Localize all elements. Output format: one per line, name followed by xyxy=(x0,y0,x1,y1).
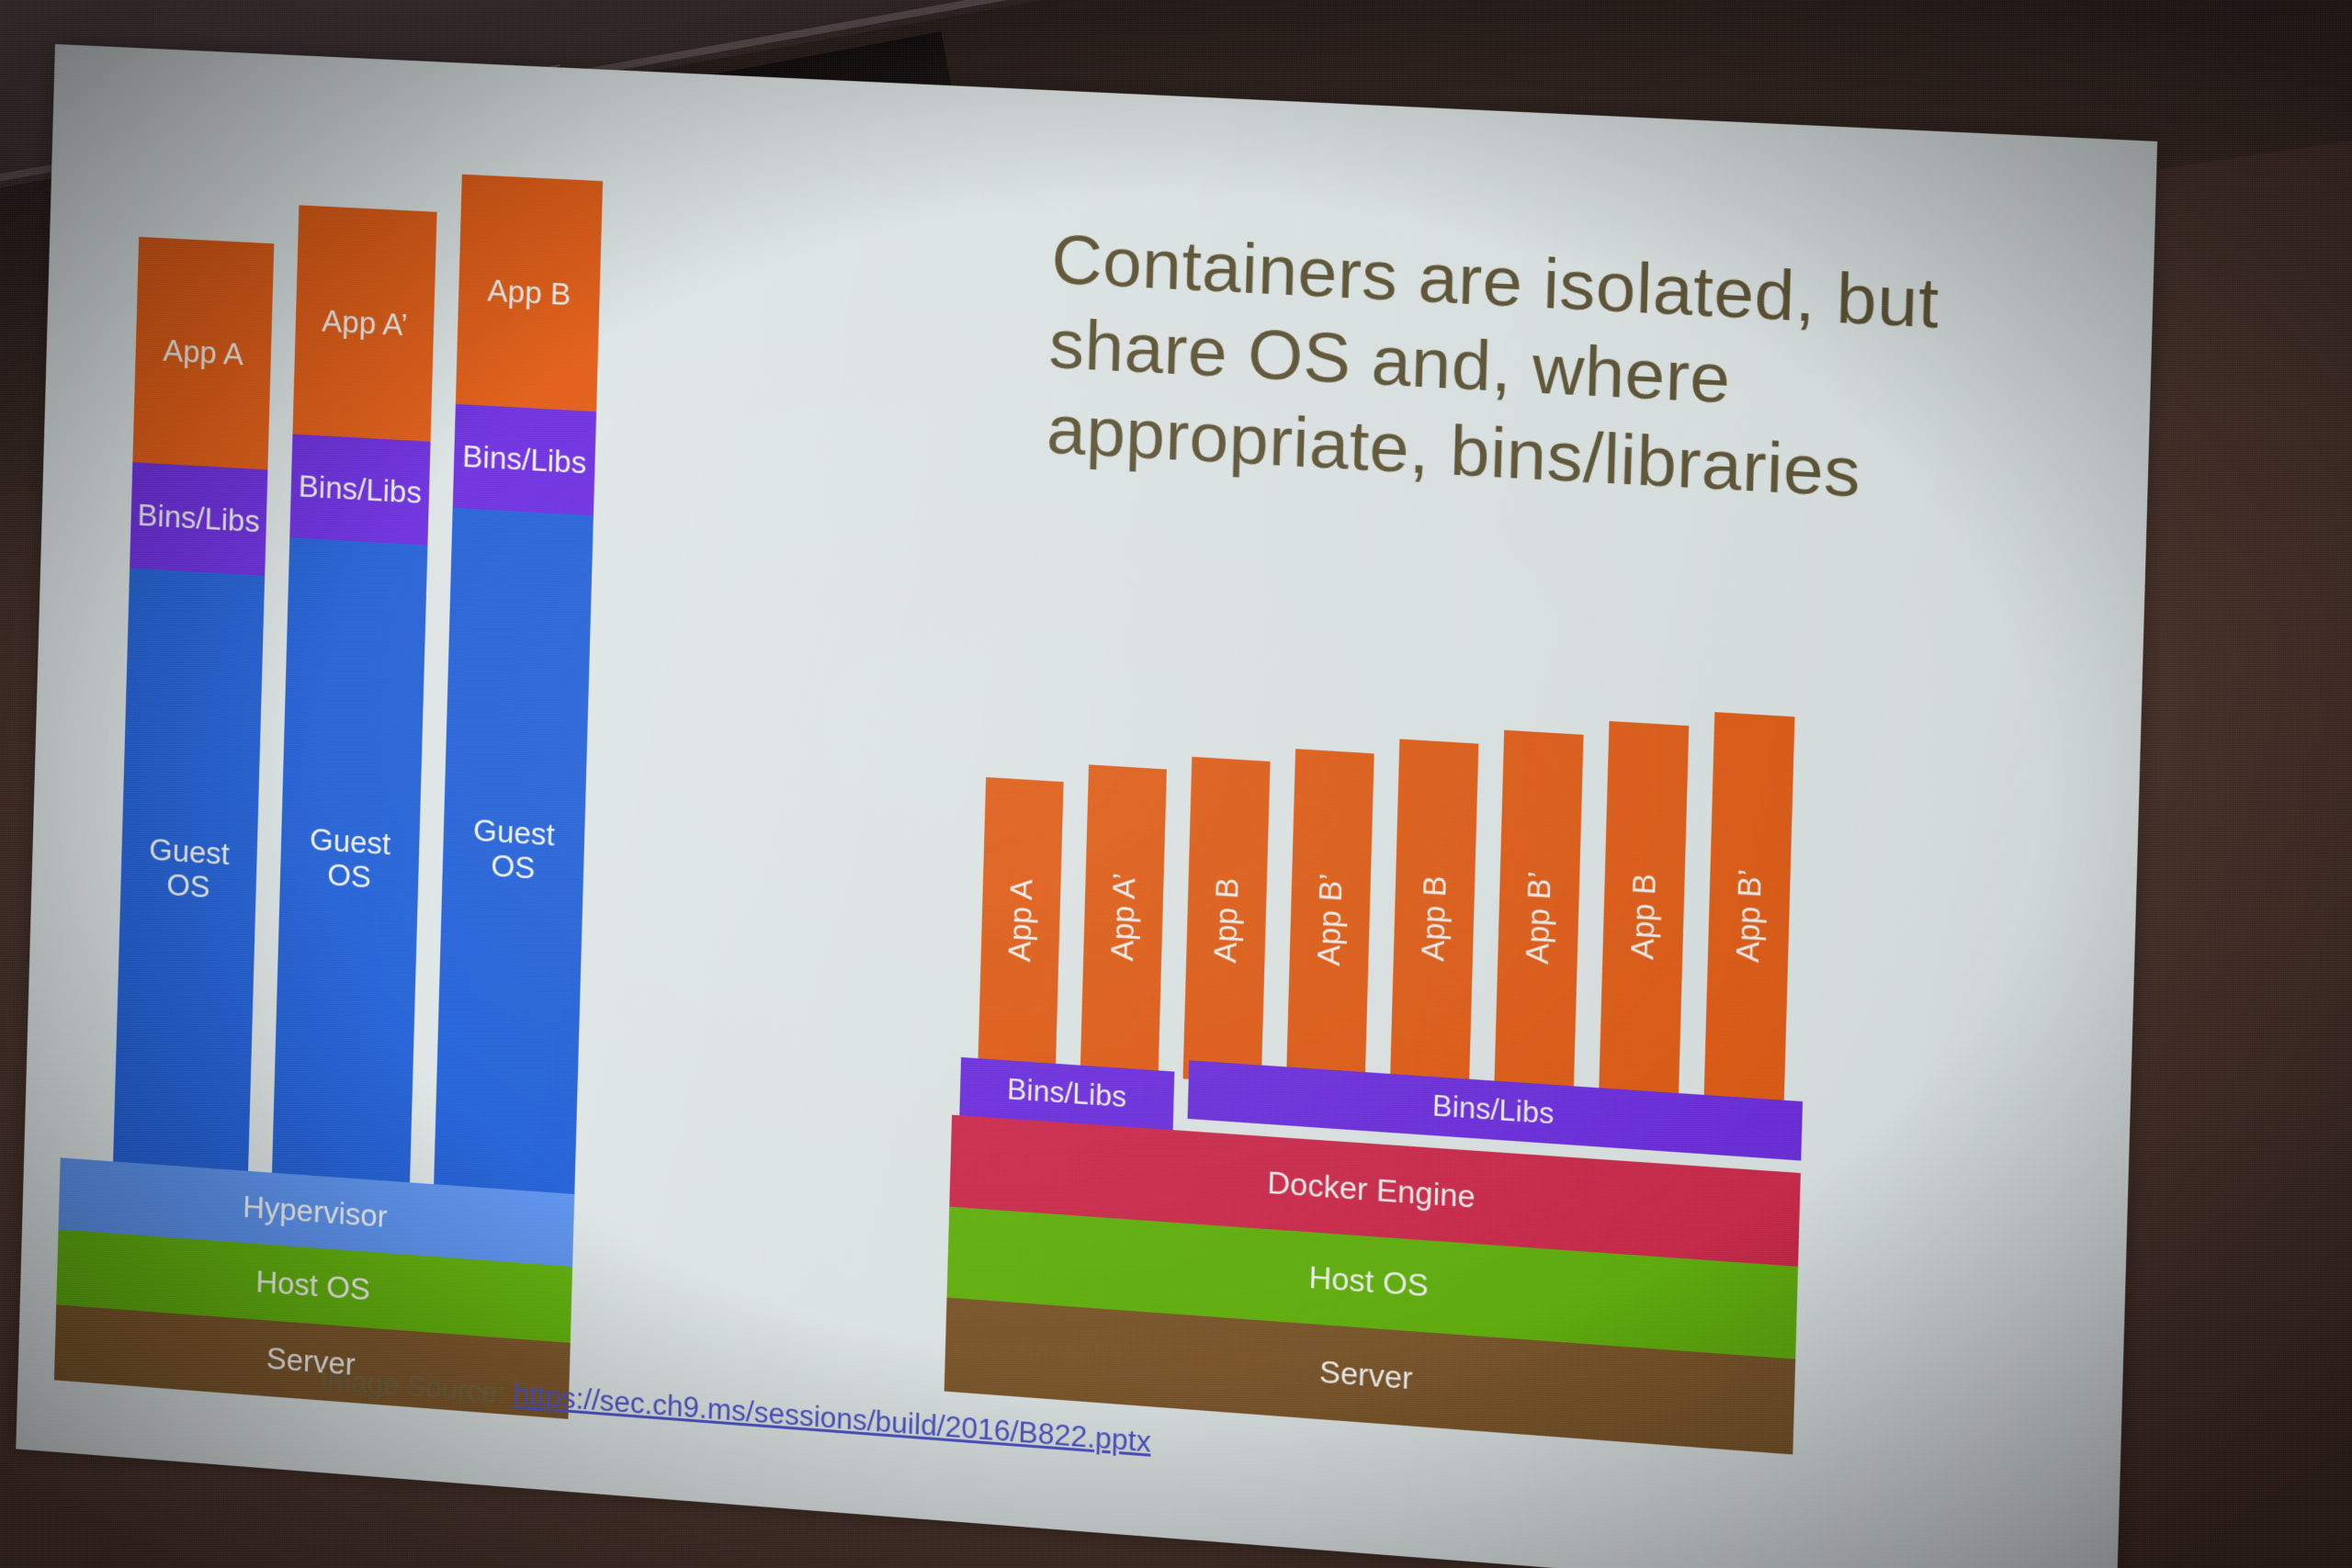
container-app-2: App A’ xyxy=(1080,764,1167,1070)
vm-col-1-guest-os: Guest OS xyxy=(113,568,265,1170)
vm-col-1-bins: Bins/Libs xyxy=(130,462,267,576)
container-app-3: App B xyxy=(1183,757,1271,1084)
vm-col-2-guest-os: Guest OS xyxy=(272,537,427,1182)
container-app-6: App B’ xyxy=(1494,730,1584,1105)
vm-col-2-bins: Bins/Libs xyxy=(289,434,430,546)
container-app-8: App B’ xyxy=(1703,712,1794,1119)
container-app-7: App B xyxy=(1599,721,1690,1112)
container-app-5: App B xyxy=(1390,739,1479,1098)
vm-col-1-app: App A xyxy=(132,237,274,470)
vm-col-3-guest-os: Guest OS xyxy=(434,508,594,1194)
slide-headline: Containers are isolated, but share OS an… xyxy=(1046,217,2020,524)
container-app-4: App B’ xyxy=(1286,749,1374,1091)
vm-col-3-app: App B xyxy=(456,175,603,412)
vm-col-3-bins: Bins/Libs xyxy=(453,404,596,516)
vm-col-2-app: App A’ xyxy=(292,205,436,441)
container-app-1: App A xyxy=(978,777,1064,1064)
slide-canvas: Containers are isolated, but share OS an… xyxy=(16,44,2157,1568)
photo-scene: Containers are isolated, but share OS an… xyxy=(0,0,2352,1568)
projection-screen: Containers are isolated, but share OS an… xyxy=(0,0,2352,1568)
